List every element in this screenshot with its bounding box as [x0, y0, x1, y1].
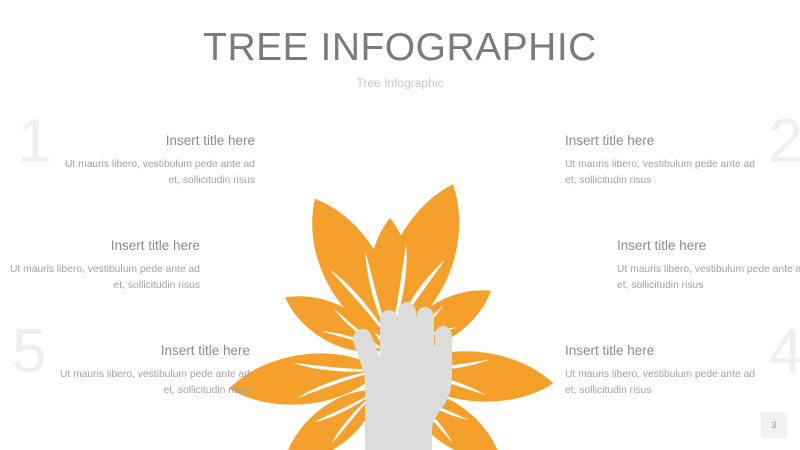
block-body-1: Ut mauris libero, vestibulum pede ante a…: [55, 157, 255, 188]
block-body-4: Ut mauris libero, vestibulum pede ante a…: [565, 367, 765, 398]
block-title-1: Insert title here: [55, 133, 255, 148]
page-title: TREE INFOGRAPHIC: [0, 26, 800, 70]
block-title-6: Insert title here: [0, 238, 200, 253]
block-title-5: Insert title here: [50, 343, 250, 358]
block-title-4: Insert title here: [565, 343, 765, 358]
page-number-badge: 3: [761, 412, 787, 438]
block-body-6: Ut mauris libero, vestibulum pede ante a…: [0, 262, 200, 293]
info-block-5[interactable]: 5 Insert title here Ut mauris libero, ve…: [50, 343, 250, 398]
block-numeral-5: 5: [12, 321, 46, 383]
block-body-2: Ut mauris libero, vestibulum pede ante a…: [565, 157, 765, 188]
info-block-3[interactable]: 3 Insert title here Ut mauris libero, ve…: [617, 238, 800, 293]
tree-graphic: [214, 108, 566, 450]
info-block-4[interactable]: 4 Insert title here Ut mauris libero, ve…: [565, 343, 765, 398]
block-title-2: Insert title here: [565, 133, 765, 148]
block-body-3: Ut mauris libero, vestibulum pede ante a…: [617, 262, 800, 293]
block-body-5: Ut mauris libero, vestibulum pede ante a…: [50, 367, 250, 398]
block-title-3: Insert title here: [617, 238, 800, 253]
info-block-2[interactable]: 2 Insert title here Ut mauris libero, ve…: [565, 133, 765, 188]
info-block-6[interactable]: 6 Insert title here Ut mauris libero, ve…: [0, 238, 200, 293]
block-numeral-2: 2: [769, 111, 800, 173]
block-numeral-1: 1: [17, 111, 51, 173]
slide-canvas: TREE INFOGRAPHIC Tree Infographic: [0, 0, 800, 450]
page-subtitle: Tree Infographic: [0, 76, 800, 90]
block-numeral-4: 4: [769, 321, 800, 383]
info-block-1[interactable]: 1 Insert title here Ut mauris libero, ve…: [55, 133, 255, 188]
